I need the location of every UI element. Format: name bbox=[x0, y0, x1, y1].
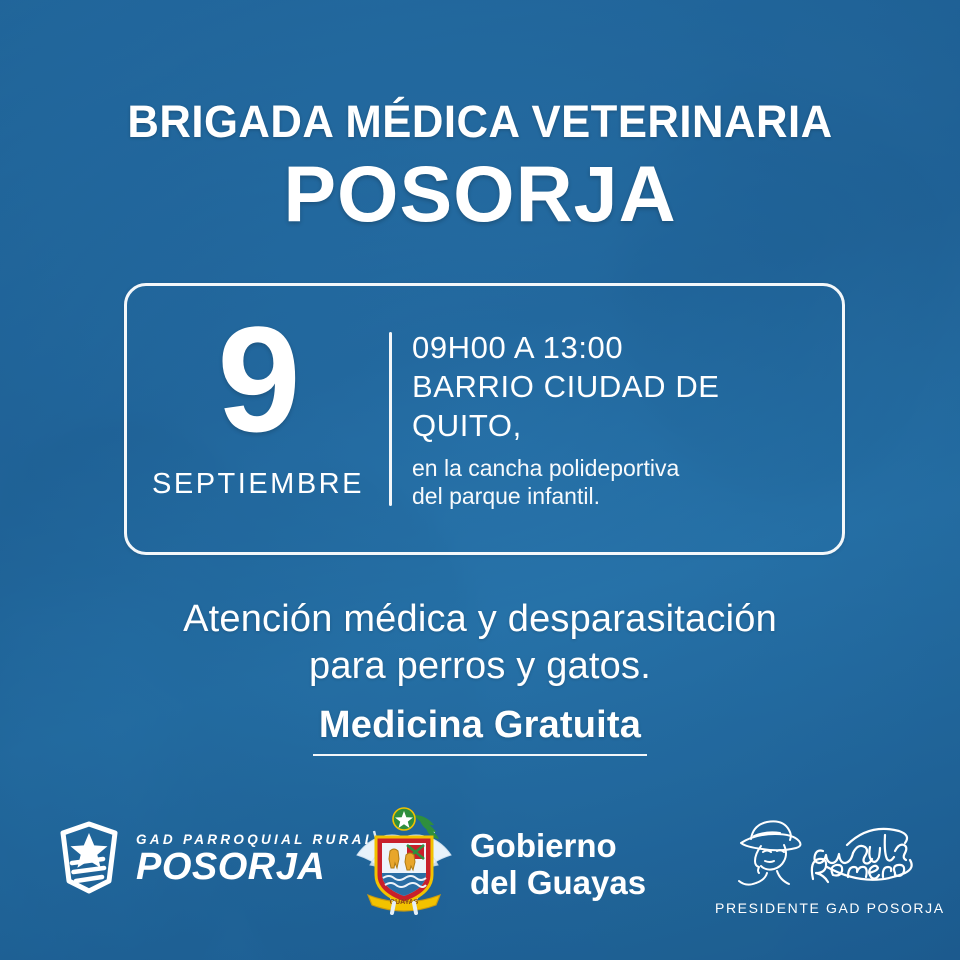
free-medicine-label: Medicina Gratuita bbox=[313, 703, 647, 756]
service-description: Atención médica y desparasitación para p… bbox=[0, 596, 960, 690]
event-month-label: SEPTIEMBRE bbox=[152, 468, 364, 501]
man-with-hat-line-art-icon bbox=[727, 817, 932, 894]
event-detail-column: 09H00 A 13:00 BARRIO CIUDAD DE QUITO, en… bbox=[392, 286, 842, 552]
shield-star-icon bbox=[55, 819, 123, 900]
poster-canvas: BRIGADA MÉDICA VETERINARIA POSORJA 9 SEP… bbox=[0, 0, 960, 960]
free-medicine-banner: Medicina Gratuita bbox=[0, 703, 960, 756]
event-info-box: 9 SEPTIEMBRE 09H00 A 13:00 BARRIO CIUDAD… bbox=[124, 283, 845, 555]
logo-gobierno-guayas: GUAYAS Gobierno del Guayas bbox=[352, 807, 646, 920]
logo-manuel-romero: PRESIDENTE GAD POSORJA bbox=[715, 817, 945, 917]
poster-title: BRIGADA MÉDICA VETERINARIA POSORJA bbox=[0, 96, 960, 236]
logo-guayas-line-2: del Guayas bbox=[470, 864, 646, 901]
event-location-detail-2: del parque infantil. bbox=[412, 482, 824, 510]
guayas-coat-of-arms-icon: GUAYAS bbox=[352, 807, 456, 920]
event-location: BARRIO CIUDAD DE QUITO, bbox=[412, 367, 824, 445]
title-line-1: BRIGADA MÉDICA VETERINARIA bbox=[14, 96, 945, 148]
logo-posorja-main-text: POSORJA bbox=[136, 847, 376, 887]
service-description-line-2: para perros y gatos. bbox=[0, 643, 960, 690]
title-line-2: POSORJA bbox=[0, 152, 960, 236]
logo-romero-subtitle: PRESIDENTE GAD POSORJA bbox=[715, 900, 945, 917]
logo-guayas-line-1: Gobierno bbox=[470, 827, 646, 864]
event-day-number: 9 bbox=[217, 304, 298, 454]
event-schedule: 09H00 A 13:00 bbox=[412, 328, 824, 367]
logo-gad-posorja: GAD PARROQUIAL RURAL POSORJA bbox=[55, 819, 376, 900]
event-date-column: 9 SEPTIEMBRE bbox=[127, 286, 389, 552]
service-description-line-1: Atención médica y desparasitación bbox=[0, 596, 960, 643]
event-location-detail-1: en la cancha polideportiva bbox=[412, 454, 824, 482]
footer-logos: GAD PARROQUIAL RURAL POSORJA bbox=[0, 805, 960, 925]
